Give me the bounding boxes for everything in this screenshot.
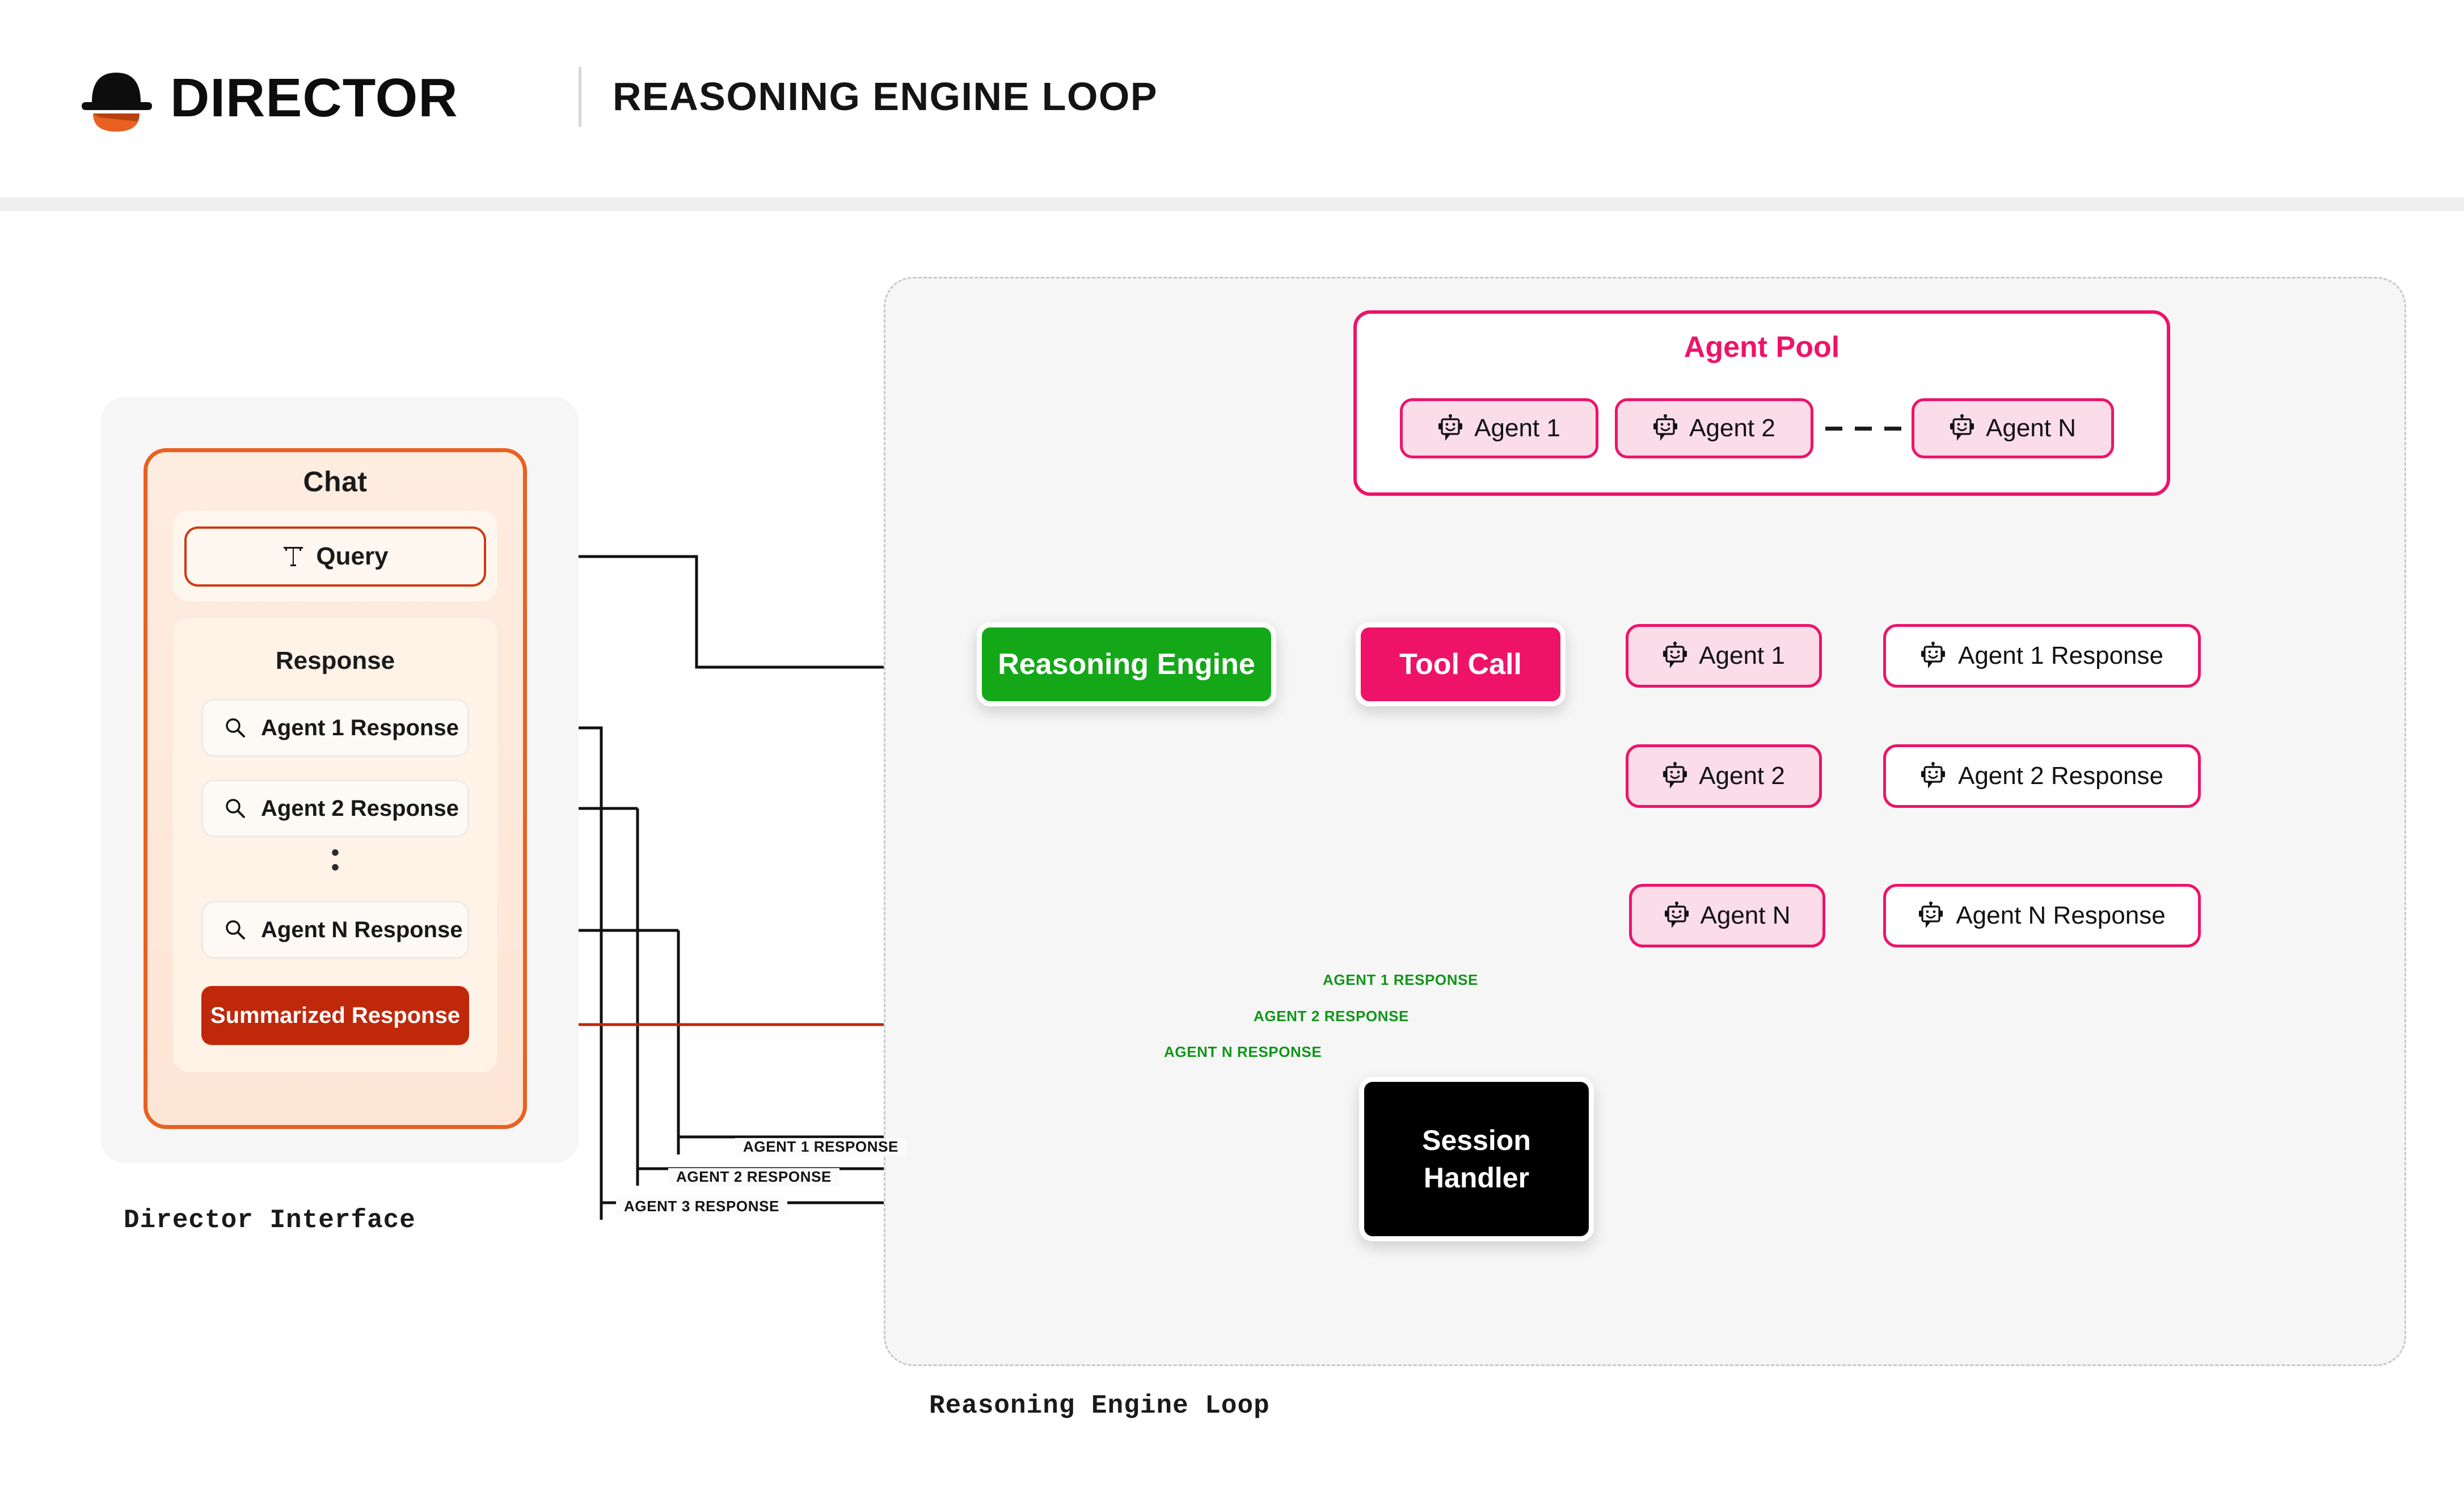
pool-agent-label: Agent 2 — [1689, 414, 1775, 443]
director-interface-caption: Director Interface — [124, 1206, 416, 1235]
agent-2-chip[interactable]: Agent 2 — [1626, 744, 1822, 808]
agent-pool-dash-separator — [1825, 427, 1901, 431]
tool-call-node[interactable]: Tool Call — [1356, 622, 1566, 706]
reasoning-engine-loop-caption: Reasoning Engine Loop — [929, 1391, 1270, 1421]
robot-icon — [1438, 414, 1463, 443]
header-rule — [0, 197, 2464, 211]
session-handler-label-line2: Handler — [1424, 1161, 1529, 1194]
summarized-response-label: Summarized Response — [210, 1003, 460, 1029]
pool-agent-label: Agent N — [1986, 414, 2076, 443]
text-type-icon — [282, 544, 305, 569]
agent-n-response-chip[interactable]: Agent N Response — [1883, 884, 2201, 947]
reasoning-engine-node[interactable]: Reasoning Engine — [977, 622, 1276, 706]
chat-title: Chat — [144, 465, 527, 498]
agent-label: Agent N — [1701, 901, 1791, 930]
robot-icon — [1663, 761, 1687, 791]
search-icon — [225, 798, 246, 819]
agent-1-chip[interactable]: Agent 1 — [1626, 624, 1822, 688]
chat-response-label: Agent N Response — [261, 917, 463, 943]
agent-pool-title: Agent Pool — [1353, 330, 2170, 364]
agent-n-chip[interactable]: Agent N — [1629, 884, 1825, 947]
chat-agent-1-response-item[interactable]: Agent 1 Response — [201, 699, 469, 757]
green-edge-label-agent2: AGENT 2 RESPONSE — [1246, 1008, 1417, 1025]
agent-2-response-chip[interactable]: Agent 2 Response — [1883, 744, 2201, 808]
tool-call-label: Tool Call — [1399, 647, 1522, 681]
bowler-hat-logo-icon — [79, 64, 153, 132]
page-header: DIRECTOR REASONING ENGINE LOOP — [0, 0, 2464, 193]
green-edge-label-agent1: AGENT 1 RESPONSE — [1315, 971, 1486, 989]
pool-agent-label: Agent 1 — [1474, 414, 1560, 443]
robot-icon — [1663, 641, 1687, 671]
robot-icon — [1918, 901, 1943, 930]
brand-title: DIRECTOR — [170, 67, 458, 129]
search-icon — [225, 717, 246, 739]
robot-icon — [1921, 761, 1946, 791]
pool-agent-2-chip[interactable]: Agent 2 — [1615, 398, 1813, 458]
agent-response-label: Agent 1 Response — [1958, 642, 2163, 670]
green-edge-label-agentN: AGENT N RESPONSE — [1156, 1043, 1330, 1061]
session-handler-node[interactable]: Session Handler — [1359, 1077, 1594, 1241]
agent-response-label: Agent N Response — [1956, 901, 2165, 930]
robot-icon — [1664, 901, 1689, 930]
black-edge-label-agent2: AGENT 2 RESPONSE — [668, 1168, 839, 1186]
robot-icon — [1921, 641, 1946, 671]
ellipsis-indicator: •• — [201, 845, 469, 875]
response-title: Response — [173, 647, 497, 675]
pool-agent-n-chip[interactable]: Agent N — [1912, 398, 2114, 458]
chat-agent-n-response-item[interactable]: Agent N Response — [201, 901, 469, 959]
black-edge-label-agent3: AGENT 3 RESPONSE — [616, 1198, 787, 1215]
chat-response-label: Agent 1 Response — [261, 715, 459, 741]
chat-response-label: Agent 2 Response — [261, 796, 459, 821]
page-subtitle: REASONING ENGINE LOOP — [613, 74, 1158, 119]
session-handler-label-line1: Session — [1422, 1124, 1531, 1157]
query-input[interactable]: Query — [184, 526, 486, 587]
diagram-canvas: DIRECTOR REASONING ENGINE LOOP — [0, 0, 2464, 1500]
agent-response-label: Agent 2 Response — [1958, 762, 2163, 790]
chat-agent-2-response-item[interactable]: Agent 2 Response — [201, 780, 469, 837]
agent-label: Agent 1 — [1699, 642, 1785, 670]
header-divider — [579, 67, 581, 127]
pool-agent-1-chip[interactable]: Agent 1 — [1400, 398, 1598, 458]
robot-icon — [1653, 414, 1678, 443]
black-edge-label-agent1: AGENT 1 RESPONSE — [735, 1138, 906, 1156]
query-label: Query — [316, 542, 388, 571]
search-icon — [225, 919, 246, 941]
summarized-response-button[interactable]: Summarized Response — [201, 986, 469, 1045]
robot-icon — [1950, 414, 1974, 443]
agent-label: Agent 2 — [1699, 762, 1785, 790]
reasoning-engine-label: Reasoning Engine — [998, 647, 1255, 681]
agent-1-response-chip[interactable]: Agent 1 Response — [1883, 624, 2201, 688]
